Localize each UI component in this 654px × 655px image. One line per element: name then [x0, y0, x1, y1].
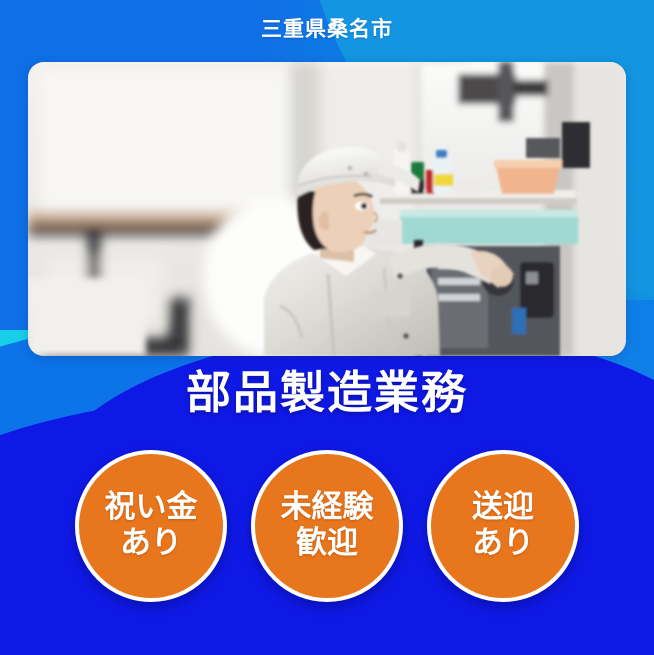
badge-celebration-money[interactable]: 祝い金 あり [75, 450, 227, 602]
worker-photo [28, 62, 626, 356]
badge-line-2: 歓迎 [296, 526, 358, 562]
banner-header: 三重県桑名市 [0, 0, 654, 56]
badge-line-2: あり [472, 526, 534, 562]
badge-line-2: あり [120, 526, 182, 562]
benefit-badge-list: 祝い金 あり 未経験 歓迎 送迎 あり [0, 450, 654, 602]
badge-line-1: 送迎 [472, 490, 534, 526]
location-label: 三重県桑名市 [261, 13, 393, 43]
job-advert-banner: 三重県桑名市 [0, 0, 654, 655]
badge-no-experience-welcome[interactable]: 未経験 歓迎 [251, 450, 403, 602]
badge-shuttle-service[interactable]: 送迎 あり [427, 450, 579, 602]
job-title-container: 部品製造業務 [0, 368, 654, 418]
job-title: 部品製造業務 [186, 368, 468, 418]
badge-line-1: 未経験 [281, 490, 374, 526]
badge-line-1: 祝い金 [105, 490, 198, 526]
